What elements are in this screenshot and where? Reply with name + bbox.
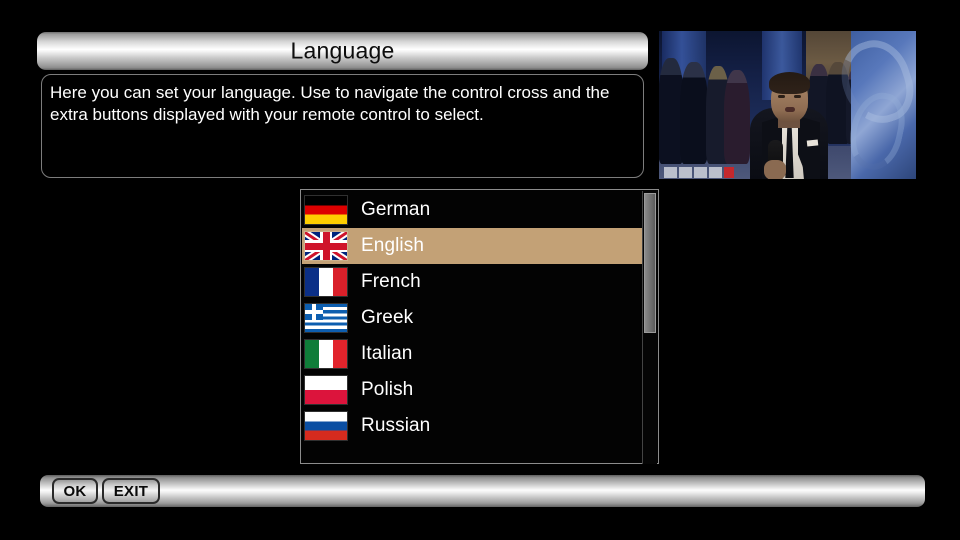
bottom-button-bar: OK EXIT xyxy=(40,475,925,507)
flag-greece-icon xyxy=(305,304,347,332)
exit-button[interactable]: EXIT xyxy=(102,478,160,504)
list-item[interactable]: French xyxy=(302,264,644,300)
list-item[interactable]: German xyxy=(302,192,644,228)
list-item-label: German xyxy=(361,199,430,221)
ok-button[interactable]: OK xyxy=(52,478,98,504)
language-list-scrollbar[interactable] xyxy=(642,191,657,464)
list-item[interactable]: Greek xyxy=(302,300,644,336)
description-panel: Here you can set your language. Use to n… xyxy=(41,74,644,178)
list-item[interactable]: Polish xyxy=(302,372,644,408)
flag-germany-icon xyxy=(305,196,347,224)
list-item[interactable]: Russian xyxy=(302,408,644,444)
list-item[interactable]: Italian xyxy=(302,336,644,372)
scrollbar-thumb[interactable] xyxy=(644,193,656,333)
language-list-panel: German English French Greek xyxy=(300,189,659,464)
list-item-label: Russian xyxy=(361,415,430,437)
list-item-label: Italian xyxy=(361,343,412,365)
list-item[interactable]: English xyxy=(302,228,644,264)
page-title: Language xyxy=(37,38,648,65)
list-item-label: Greek xyxy=(361,307,413,329)
title-bar: Language xyxy=(37,32,648,70)
list-item-label: English xyxy=(361,235,424,257)
list-item-label: French xyxy=(361,271,421,293)
flag-poland-icon xyxy=(305,376,347,404)
tv-video-preview[interactable] xyxy=(658,30,917,180)
flag-united-kingdom-icon xyxy=(305,232,347,260)
flag-france-icon xyxy=(305,268,347,296)
list-item-label: Polish xyxy=(361,379,413,401)
language-list: German English French Greek xyxy=(302,192,644,444)
video-border xyxy=(658,30,917,180)
flag-russia-icon xyxy=(305,412,347,440)
description-text: Here you can set your language. Use to n… xyxy=(50,82,633,126)
flag-italy-icon xyxy=(305,340,347,368)
